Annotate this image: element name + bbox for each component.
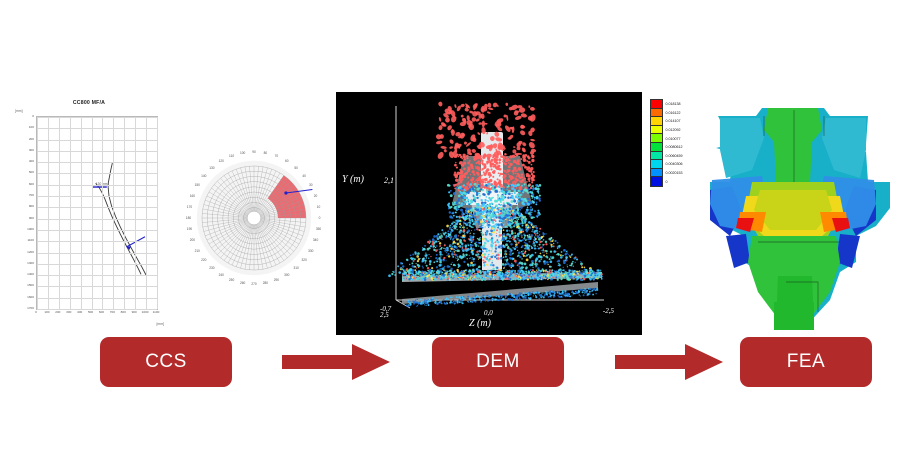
polar-degree-tick: 330 [308, 249, 313, 253]
fea-legend-value: 0.010077 [666, 137, 681, 141]
polar-degree-tick: 90 [252, 150, 256, 154]
fea-legend-value: 0 [666, 180, 668, 184]
figure-canvas: CC800 MF/A [mm] [mm] 0100200300400500600… [0, 0, 900, 460]
ccs-y-tick: 1300 [27, 261, 34, 265]
fea-stress-model [690, 86, 896, 336]
arrow-dem-to-fea-icon [615, 342, 725, 382]
ccs-y-tick: 100 [29, 125, 34, 129]
polar-degree-tick: 180 [186, 216, 191, 220]
polar-degree-tick: 30 [309, 183, 313, 187]
fea-stress-region [754, 190, 832, 230]
ccs-y-tick: 1500 [27, 283, 34, 287]
process-step-fea[interactable]: FEA [740, 337, 872, 387]
ccs-y-tick: 1200 [27, 250, 34, 254]
polar-degree-tick: 20 [314, 194, 318, 198]
dem-z-tick-left: 2,5 [380, 311, 389, 319]
ccs-y-tick: 800 [29, 204, 34, 208]
ccs-horizontal-gridline [37, 128, 157, 129]
polar-degree-tick: 310 [293, 266, 298, 270]
ccs-y-tick: 1000 [27, 227, 34, 231]
polar-degree-tick: 150 [195, 183, 200, 187]
polar-degree-tick: 200 [190, 238, 195, 242]
ccs-horizontal-gridline [37, 219, 157, 220]
dem-y-max-tick: 2,1 [384, 176, 394, 185]
fea-legend-value: 0.0060459 [666, 154, 683, 158]
polar-degree-tick: 350 [316, 227, 321, 231]
polar-degree-tick: 190 [187, 227, 192, 231]
ccs-vertical-gridline [37, 117, 38, 309]
polar-degree-tick: 160 [190, 194, 195, 198]
ccs-horizontal-gridline [37, 151, 157, 152]
fea-legend-value: 0.018138 [666, 102, 681, 106]
polar-wear-chart: 0102030405060708090100110120130140150160… [178, 142, 330, 294]
ccs-x-tick: 100 [44, 310, 49, 314]
ccs-x-tick: 600 [99, 310, 104, 314]
ccs-x-axis-unit: [mm] [156, 322, 164, 326]
polar-grid [178, 142, 330, 294]
polar-degree-tick: 300 [284, 273, 289, 277]
ccs-horizontal-gridline [37, 298, 157, 299]
ccs-x-tick: 1000 [142, 310, 149, 314]
polar-pointer-arrow-head [284, 191, 287, 194]
polar-degree-tick: 270 [251, 282, 256, 286]
fea-stress-region [726, 234, 750, 268]
ccs-x-tick: 1100 [153, 310, 160, 314]
fea-legend-value: 0.012092 [666, 128, 681, 132]
ccs-horizontal-gridline [37, 207, 157, 208]
polar-degree-tick: 340 [313, 238, 318, 242]
ccs-x-tick: 200 [55, 310, 60, 314]
polar-degree-tick: 220 [201, 258, 206, 262]
ccs-x-tick: 300 [66, 310, 71, 314]
polar-degree-tick: 170 [187, 205, 192, 209]
polar-degree-tick: 230 [209, 266, 214, 270]
dem-z-tick-mid: 0,0 [484, 309, 493, 317]
ccs-vertical-gridline [124, 117, 125, 309]
ccs-horizontal-gridline [37, 196, 157, 197]
polar-degree-tick: 0 [319, 216, 321, 220]
polar-degree-tick: 130 [209, 166, 214, 170]
ccs-horizontal-gridline [37, 117, 157, 118]
ccs-x-tick: 900 [132, 310, 137, 314]
ccs-y-tick: 0 [32, 114, 34, 118]
ccs-horizontal-gridline [37, 275, 157, 276]
polar-degree-tick: 40 [302, 174, 306, 178]
fea-stress-region [774, 302, 814, 330]
fea-legend-value: 0.016122 [666, 111, 681, 115]
ccs-y-tick: 1700 [27, 306, 34, 310]
polar-degree-tick: 60 [285, 159, 289, 163]
ccs-y-tick: 1600 [27, 295, 34, 299]
ccs-profile-chart: CC800 MF/A [mm] [mm] 0100200300400500600… [14, 100, 164, 325]
ccs-horizontal-gridline [37, 173, 157, 174]
fea-legend-value: 0.0080612 [666, 145, 683, 149]
dem-scene [336, 92, 642, 335]
ccs-y-tick: 400 [29, 159, 34, 163]
ccs-y-axis-unit: [mm] [15, 109, 23, 113]
polar-degree-tick: 110 [229, 154, 234, 158]
polar-degree-tick: 80 [264, 151, 268, 155]
ccs-vertical-gridline [59, 117, 60, 309]
ccs-vertical-gridline [102, 117, 103, 309]
polar-degree-tick: 240 [219, 273, 224, 277]
ccs-y-tick: 700 [29, 193, 34, 197]
ccs-vertical-gridline [48, 117, 49, 309]
ccs-horizontal-gridline [37, 140, 157, 141]
ccs-y-tick-labels: 0100200300400500600700800900100011001200… [14, 116, 34, 308]
ccs-horizontal-gridline [37, 230, 157, 231]
ccs-vertical-gridline [70, 117, 71, 309]
ccs-y-tick: 300 [29, 148, 34, 152]
polar-degree-tick: 260 [240, 281, 245, 285]
process-step-ccs[interactable]: CCS [100, 337, 232, 387]
ccs-horizontal-gridline [37, 264, 157, 265]
polar-degree-tick: 70 [275, 154, 279, 158]
polar-hub [247, 211, 261, 225]
ccs-x-tick: 500 [88, 310, 93, 314]
ccs-y-tick: 900 [29, 216, 34, 220]
ccs-x-tick: 700 [110, 310, 115, 314]
ccs-y-tick: 500 [29, 170, 34, 174]
ccs-x-tick: 800 [121, 310, 126, 314]
ccs-y-tick: 1100 [27, 238, 34, 242]
ccs-x-tick-labels: 010020030040050060070080090010001100 [36, 310, 156, 320]
ccs-chart-title: CC800 MF/A [14, 100, 164, 106]
arrow-ccs-to-dem-icon [282, 342, 392, 382]
ccs-y-tick: 200 [29, 137, 34, 141]
polar-degree-tick: 320 [302, 258, 307, 262]
polar-degree-tick: 10 [317, 205, 321, 209]
ccs-horizontal-gridline [37, 286, 157, 287]
ccs-horizontal-gridline [37, 162, 157, 163]
polar-degree-tick: 50 [294, 166, 298, 170]
dem-simulation-panel: Y (m) 2,1 Z (m) -0,7 2,5 0,0 -2,5 [336, 92, 642, 335]
ccs-vertical-gridline [146, 117, 147, 309]
fea-geometry [690, 86, 896, 336]
ccs-horizontal-gridline [37, 253, 157, 254]
ccs-x-tick: 400 [77, 310, 82, 314]
ccs-y-tick: 1400 [27, 272, 34, 276]
dem-y-axis-label: Y (m) [342, 174, 364, 185]
fea-legend-value: 0.0040306 [666, 162, 683, 166]
ccs-x-tick: 0 [35, 310, 37, 314]
ccs-curves: 130 mm [37, 117, 157, 309]
ccs-y-tick: 600 [29, 182, 34, 186]
ccs-vertical-gridline [157, 117, 158, 309]
ccs-horizontal-gridline [37, 185, 157, 186]
dem-z-axis-label: Z (m) [469, 318, 491, 329]
polar-degree-tick: 290 [274, 278, 279, 282]
ccs-horizontal-gridline [37, 309, 157, 310]
polar-degree-tick: 250 [229, 278, 234, 282]
fea-legend-value: 0.0020153 [666, 171, 683, 175]
polar-degree-tick: 100 [240, 151, 245, 155]
polar-degree-tick: 120 [219, 159, 224, 163]
polar-degree-tick: 210 [195, 249, 200, 253]
polar-degree-tick: 280 [263, 281, 268, 285]
fea-legend-swatch [650, 176, 663, 187]
process-step-dem[interactable]: DEM [432, 337, 564, 387]
dem-z-tick-right: -2,5 [603, 307, 614, 315]
ccs-horizontal-gridline [37, 241, 157, 242]
polar-degree-tick: 140 [201, 174, 206, 178]
ccs-plot-area: 130 mm [36, 116, 158, 310]
ccs-vertical-gridline [81, 117, 82, 309]
ccs-vertical-gridline [135, 117, 136, 309]
ccs-vertical-gridline [113, 117, 114, 309]
ccs-vertical-gridline [92, 117, 93, 309]
fea-legend-value: 0.014107 [666, 119, 681, 123]
